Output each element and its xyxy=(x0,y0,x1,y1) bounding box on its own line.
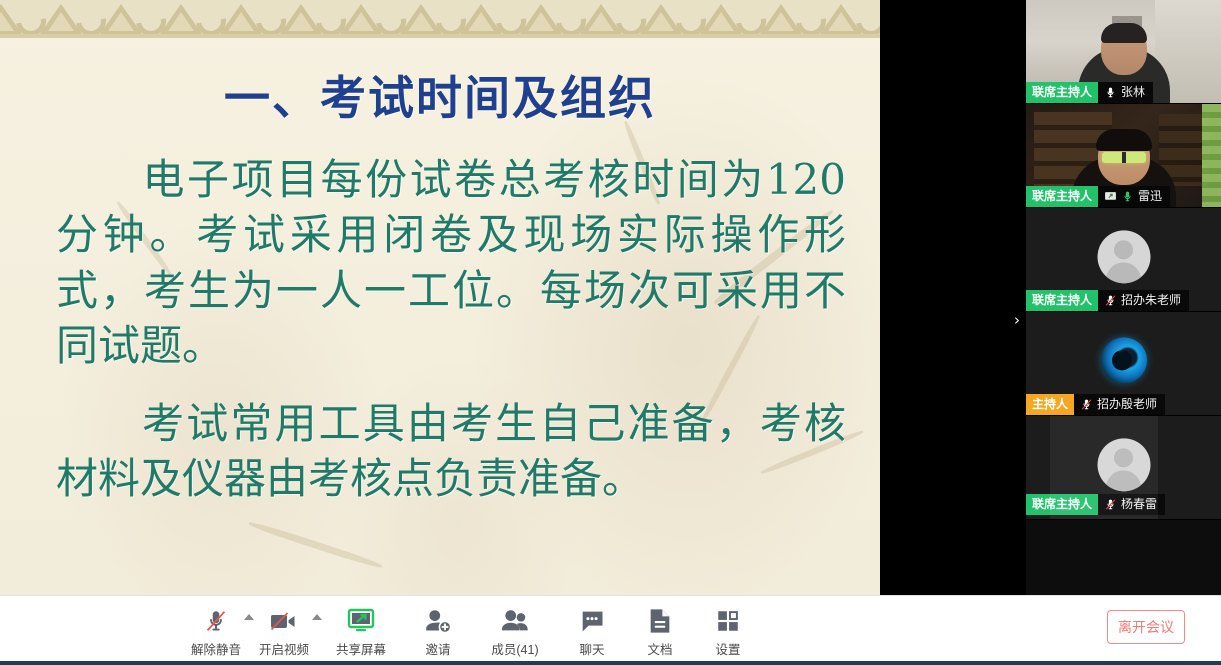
participants-button[interactable]: 成员(41) xyxy=(472,598,558,660)
participant-tile[interactable]: 联席主持人 杨春雷 xyxy=(1026,416,1221,520)
document-button[interactable]: 文档 xyxy=(626,598,694,660)
border-triangle-inner xyxy=(828,12,854,31)
microphone-muted-icon xyxy=(1104,293,1117,308)
border-triangle-inner xyxy=(48,12,74,31)
screen-share-icon xyxy=(1104,189,1117,204)
participants-label: 成员(41) xyxy=(491,639,538,658)
chat-icon xyxy=(578,606,606,636)
settings-icon xyxy=(715,606,741,636)
participant-role-badge: 联席主持人 xyxy=(1026,82,1098,103)
presentation-slide: 一、考试时间及组织 电子项目每份试卷总考核时间为120分钟。考试采用闭卷及现场实… xyxy=(0,0,880,595)
participant-role-badge: 主持人 xyxy=(1026,394,1074,415)
participant-role-badge: 联席主持人 xyxy=(1026,494,1098,515)
border-triangle-inner xyxy=(528,12,554,31)
toolbar-controls: 解除静音 开启视频 xyxy=(182,596,762,662)
watermark-stroke xyxy=(248,520,383,570)
document-icon xyxy=(647,606,673,636)
border-triangle-inner xyxy=(408,12,434,31)
microphone-active-icon xyxy=(1121,189,1134,204)
participant-label-bar: 联席主持人 张林 xyxy=(1026,82,1153,103)
participant-role-badge: 联席主持人 xyxy=(1026,186,1098,207)
default-avatar xyxy=(1097,230,1150,283)
share-screen-icon xyxy=(345,606,377,636)
participant-role-badge: 联席主持人 xyxy=(1026,290,1098,311)
invite-button[interactable]: 邀请 xyxy=(404,598,472,660)
start-video-button[interactable]: 开启视频 xyxy=(250,598,318,660)
border-triangle-inner xyxy=(708,12,734,31)
border-triangle-inner xyxy=(168,12,194,31)
microphone-muted-icon xyxy=(1104,497,1117,512)
participant-name: 招办朱老师 xyxy=(1121,290,1181,311)
participant-label-bar: 联席主持人 雷迅 xyxy=(1026,186,1170,207)
border-triangle-inner xyxy=(588,12,614,31)
mic-muted-icon xyxy=(203,606,229,636)
participant-tile[interactable]: 联席主持人 招办朱老师 xyxy=(1026,208,1221,312)
participant-tile[interactable]: 主持人 招办殷老师 xyxy=(1026,312,1221,416)
logo-avatar xyxy=(1101,337,1147,383)
meeting-toolbar: 解除静音 开启视频 xyxy=(0,595,1221,665)
border-triangle-inner xyxy=(768,12,794,31)
participant-filmstrip[interactable]: 联席主持人 张林 联席主持人 xyxy=(1026,0,1221,595)
participant-name: 雷迅 xyxy=(1138,186,1162,207)
participant-label-bar: 联席主持人 招办朱老师 xyxy=(1026,290,1189,311)
slide-paragraph-1-text: 电子项目每份试卷总考核时间为120分钟。考试采用闭卷及现场实际操作形式，考生为一… xyxy=(56,155,846,370)
chat-button[interactable]: 聊天 xyxy=(558,598,626,660)
share-screen-label: 共享屏幕 xyxy=(336,639,386,658)
slide-paragraph-2: 考试常用工具由考生自己准备，考核材料及仪器由考核点负责准备。 xyxy=(56,396,846,507)
slide-title: 一、考试时间及组织 xyxy=(0,62,880,128)
border-triangle-inner xyxy=(228,12,254,31)
border-triangle-inner xyxy=(348,12,374,31)
participant-tile[interactable]: 联席主持人 雷迅 xyxy=(1026,104,1221,208)
slide-paragraph-1: 电子项目每份试卷总考核时间为120分钟。考试采用闭卷及现场实际操作形式，考生为一… xyxy=(56,152,846,374)
microphone-icon xyxy=(1104,85,1117,100)
border-triangle-inner xyxy=(648,12,674,31)
meeting-window: 一、考试时间及组织 电子项目每份试卷总考核时间为120分钟。考试采用闭卷及现场实… xyxy=(0,0,1221,665)
participants-icon xyxy=(500,606,530,636)
unmute-label: 解除静音 xyxy=(191,639,241,658)
border-triangle-inner xyxy=(468,12,494,31)
microphone-muted-icon xyxy=(1080,397,1093,412)
leave-meeting-button[interactable]: 离开会议 xyxy=(1107,610,1185,644)
unmute-button[interactable]: 解除静音 xyxy=(182,598,250,660)
settings-button[interactable]: 设置 xyxy=(694,598,762,660)
participant-label-bar: 联席主持人 杨春雷 xyxy=(1026,494,1165,515)
slide-paragraph-2-text: 考试常用工具由考生自己准备，考核材料及仪器由考核点负责准备。 xyxy=(56,399,846,503)
participant-name: 张林 xyxy=(1121,82,1145,103)
border-triangle-inner xyxy=(108,12,134,31)
video-off-icon xyxy=(269,606,299,636)
document-label: 文档 xyxy=(647,639,672,658)
share-screen-button[interactable]: 共享屏幕 xyxy=(318,598,404,660)
border-triangle-inner xyxy=(288,12,314,31)
participant-name: 招办殷老师 xyxy=(1097,394,1157,415)
settings-label: 设置 xyxy=(715,639,740,658)
collapse-filmstrip-chevron-right-icon[interactable]: › xyxy=(1008,308,1026,332)
slide-decorative-border xyxy=(0,0,880,38)
chat-label: 聊天 xyxy=(579,639,604,658)
default-avatar xyxy=(1097,438,1150,491)
invite-label: 邀请 xyxy=(425,639,450,658)
start-video-label: 开启视频 xyxy=(259,639,309,658)
shared-screen-stage: 一、考试时间及组织 电子项目每份试卷总考核时间为120分钟。考试采用闭卷及现场实… xyxy=(0,0,1026,595)
participant-tile[interactable]: 联席主持人 张林 xyxy=(1026,0,1221,104)
border-triangle-inner xyxy=(0,12,14,31)
participant-label-bar: 主持人 招办殷老师 xyxy=(1026,394,1165,415)
invite-icon xyxy=(424,606,452,636)
participant-name: 杨春雷 xyxy=(1121,494,1157,515)
